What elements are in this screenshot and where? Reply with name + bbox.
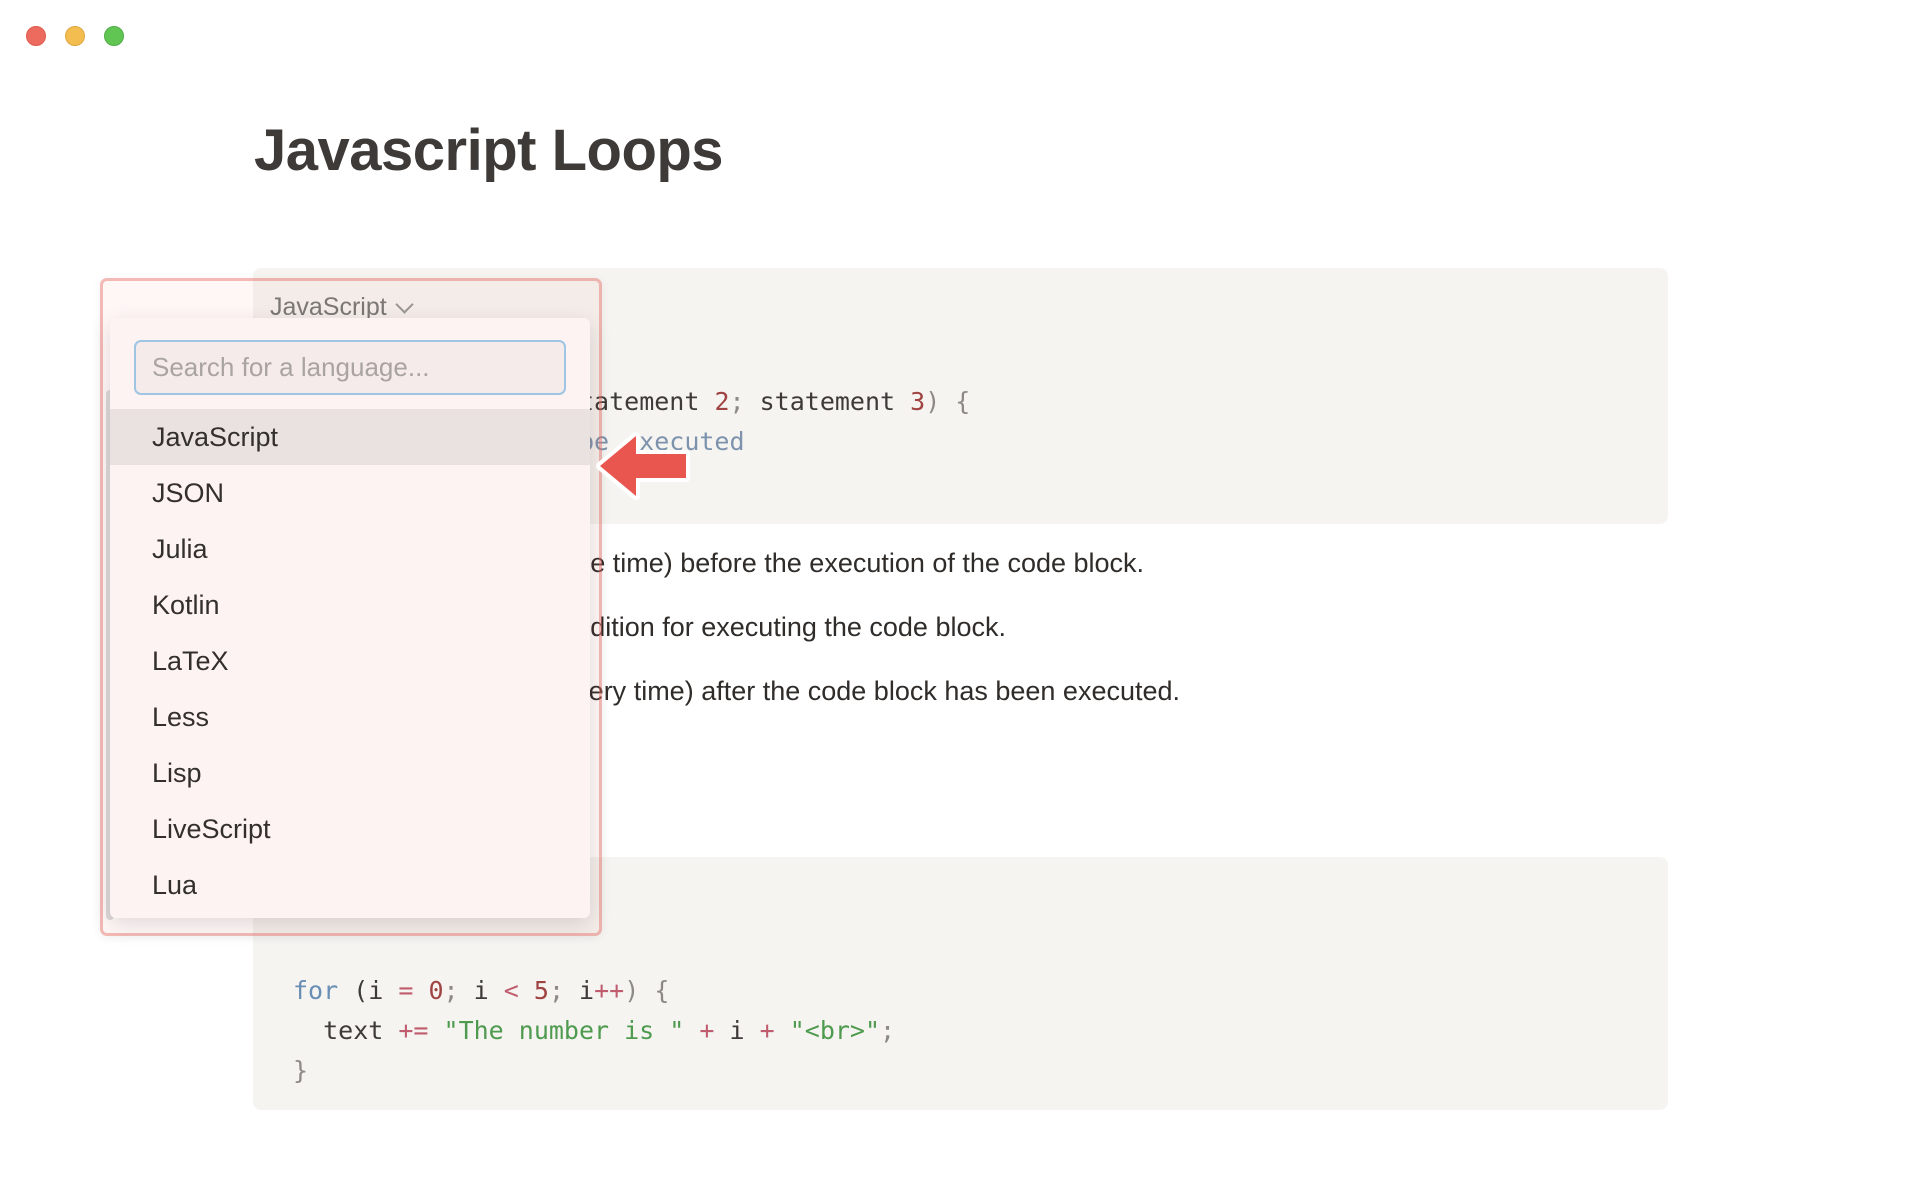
code-token: < [504, 976, 534, 1005]
code-token: 3 [910, 387, 925, 416]
window-titlebar [0, 0, 1920, 72]
language-option-label: Julia [152, 534, 208, 565]
language-option-lisp[interactable]: Lisp [110, 745, 590, 801]
language-dropdown-panel: JavaScriptJSONJuliaKotlinLaTeXLessLispLi… [110, 318, 590, 918]
code-token: } [293, 1056, 308, 1085]
code-token: = [398, 976, 428, 1005]
code-token: ) { [925, 387, 970, 416]
language-option-label: JavaScript [152, 422, 278, 453]
language-option-label: Lisp [152, 758, 202, 789]
code-token: i [474, 976, 504, 1005]
search-field-wrapper [110, 318, 590, 409]
language-search-input[interactable] [134, 340, 566, 395]
code-line: for (i = 0; i < 5; i++) { [293, 971, 1628, 1011]
code-token: 2 [714, 387, 729, 416]
annotation-arrow [594, 432, 694, 500]
code-token: + [684, 1016, 729, 1045]
close-window-button[interactable] [26, 26, 46, 46]
language-option-kotlin[interactable]: Kotlin [110, 577, 590, 633]
language-option-label: LiveScript [152, 814, 271, 845]
language-option-label: Less [152, 702, 209, 733]
code-token: i [730, 1016, 745, 1045]
language-option-lua[interactable]: Lua [110, 857, 590, 913]
code-token: "The number is " [444, 1016, 685, 1045]
language-option-label: Lua [152, 870, 197, 901]
minimize-window-button[interactable] [65, 26, 85, 46]
maximize-window-button[interactable] [104, 26, 124, 46]
page-title: Javascript Loops [254, 119, 723, 183]
chevron-down-icon [397, 297, 413, 313]
app-window: Javascript Loops for (statement 1; state… [0, 0, 1920, 1200]
code-token: i [579, 976, 594, 1005]
code-token: ; [880, 1016, 895, 1045]
language-option-list[interactable]: JavaScriptJSONJuliaKotlinLaTeXLessLispLi… [110, 409, 590, 913]
code-token: (i [353, 976, 398, 1005]
arrow-left-icon [594, 432, 694, 500]
language-option-julia[interactable]: Julia [110, 521, 590, 577]
code-lines-example: for (i = 0; i < 5; i++) { text += "The n… [293, 971, 1628, 1091]
code-token: += [398, 1016, 443, 1045]
traffic-light-group [26, 26, 124, 46]
code-token: 5 [534, 976, 549, 1005]
code-token: for [293, 976, 353, 1005]
code-token: statement [760, 387, 911, 416]
language-option-javascript[interactable]: JavaScript [110, 409, 590, 465]
code-line: } [293, 1051, 1628, 1091]
language-option-latex[interactable]: LaTeX [110, 633, 590, 689]
language-option-label: LaTeX [152, 646, 229, 677]
language-option-json[interactable]: JSON [110, 465, 590, 521]
code-token: ; [549, 976, 579, 1005]
code-token: 0 [428, 976, 443, 1005]
language-option-less[interactable]: Less [110, 689, 590, 745]
code-line: text += "The number is " + i + "<br>"; [293, 1011, 1628, 1051]
code-token: ++ [594, 976, 624, 1005]
code-token: + [745, 1016, 790, 1045]
code-token: "<br>" [790, 1016, 880, 1045]
code-token: ; [730, 387, 760, 416]
code-token: ) { [624, 976, 669, 1005]
language-option-label: JSON [152, 478, 224, 509]
code-token: ; [444, 976, 474, 1005]
language-option-label: Kotlin [152, 590, 220, 621]
code-token: text [293, 1016, 398, 1045]
language-option-livescript[interactable]: LiveScript [110, 801, 590, 857]
